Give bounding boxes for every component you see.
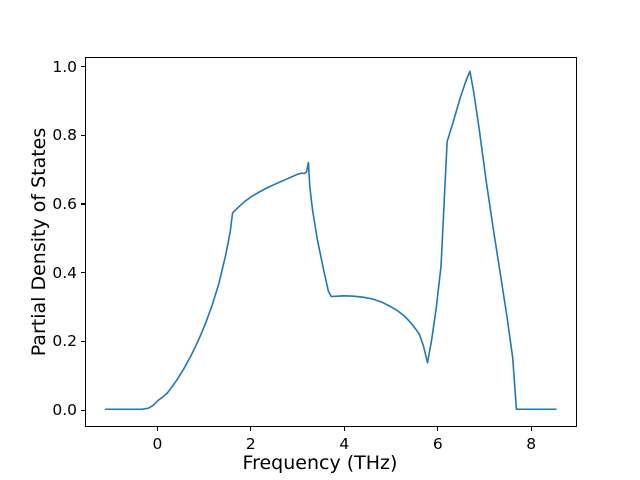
plot-area	[85, 57, 577, 427]
x-tick-mark	[250, 427, 251, 431]
x-tick-label: 8	[526, 435, 536, 453]
y-tick-label: 0.8	[41, 126, 77, 144]
x-tick-mark	[344, 427, 345, 431]
y-tick-mark	[81, 135, 85, 136]
y-tick-label: 0.2	[41, 332, 77, 350]
x-tick-label: 0	[152, 435, 162, 453]
x-tick-label: 6	[433, 435, 443, 453]
y-tick-label: 0.4	[41, 264, 77, 282]
y-tick-mark	[81, 410, 85, 411]
chart-line-svg	[86, 58, 576, 426]
y-tick-label: 1.0	[41, 58, 77, 76]
x-tick-mark	[157, 427, 158, 431]
x-axis-label: Frequency (THz)	[0, 452, 640, 474]
chart-figure: Partial Density of States 0.00.20.40.60.…	[0, 0, 640, 480]
x-tick-label: 4	[339, 435, 349, 453]
y-tick-label: 0.6	[41, 195, 77, 213]
y-tick-mark	[81, 203, 85, 204]
y-tick-mark	[81, 341, 85, 342]
dos-line-series	[106, 71, 556, 409]
y-tick-label: 0.0	[41, 401, 77, 419]
x-tick-mark	[437, 427, 438, 431]
y-axis-label: Partial Density of States	[26, 57, 52, 427]
y-tick-mark	[81, 66, 85, 67]
x-tick-mark	[531, 427, 532, 431]
x-tick-label: 2	[246, 435, 256, 453]
y-tick-mark	[81, 272, 85, 273]
